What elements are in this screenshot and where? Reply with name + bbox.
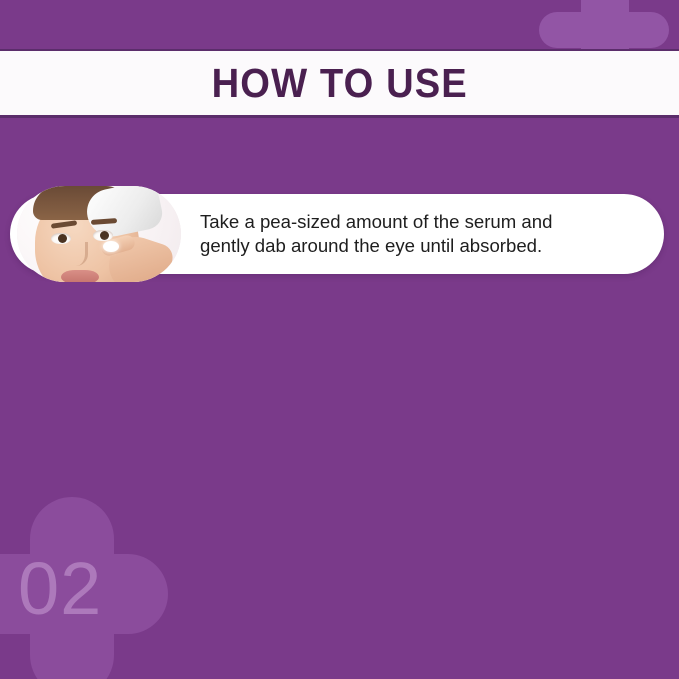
cross-horizontal-bar (539, 12, 669, 48)
face-mouth-shape (61, 270, 99, 282)
step-number: 02 (18, 549, 198, 629)
face-pupil-right (100, 231, 109, 240)
page-title: HOW TO USE (211, 60, 467, 107)
page-title-band: HOW TO USE (0, 49, 679, 118)
cross-decoration-icon: 02 (0, 489, 200, 679)
step-instruction-text: Take a pea-sized amount of the serum and… (181, 210, 664, 258)
cream-dab-icon (103, 241, 119, 252)
cross-vertical-bar (30, 497, 114, 679)
step-instruction-line: gently dab around the eye until absorbed… (200, 234, 638, 258)
step-instruction-line: Take a pea-sized amount of the serum and (200, 210, 638, 234)
cross-horizontal-bar (0, 554, 168, 634)
face-illustration-icon (17, 186, 181, 282)
how-to-use-poster: HOW TO USE Take a pea-sized (0, 0, 679, 679)
step-thumbnail (17, 186, 181, 282)
face-pupil-left (58, 234, 67, 243)
step-card: Take a pea-sized amount of the serum and… (10, 194, 664, 274)
